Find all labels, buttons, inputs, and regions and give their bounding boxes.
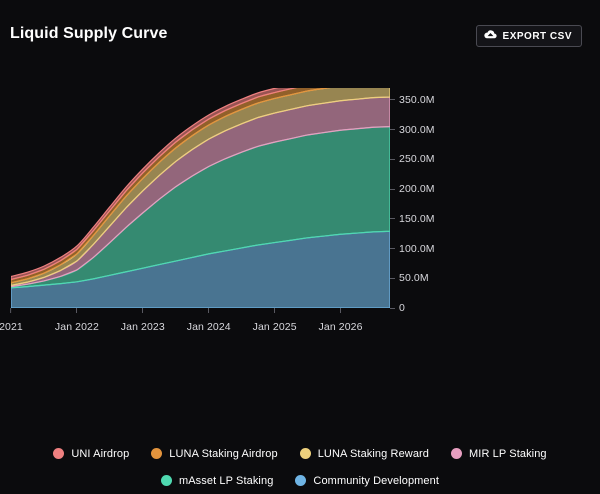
legend-label: Community Development [313,475,439,487]
y-tick-label: 50.0M [399,272,429,284]
x-axis-tick: Jan 2025 [253,308,297,335]
x-axis-tick: 2021 [0,308,23,335]
x-tick-mark [142,308,143,313]
legend-color-dot [295,475,306,486]
y-axis-tick: 200.0M [390,183,435,195]
y-axis: 050.0M100.0M150.0M200.0M250.0M300.0M350.… [390,68,460,292]
stacked-area-plot[interactable] [11,88,390,308]
x-tick-mark [208,308,209,313]
x-tick-mark [274,308,275,313]
y-tick-mark [390,189,395,190]
y-tick-mark [390,129,395,130]
legend-item-luna-staking-reward[interactable]: LUNA Staking Reward [300,448,429,460]
legend-item-uni-airdrop[interactable]: UNI Airdrop [53,448,129,460]
export-csv-button[interactable]: EXPORT CSV [476,25,582,47]
x-tick-mark [340,308,341,313]
chart-panel: Liquid Supply Curve EXPORT CSV 050.0M100… [0,0,600,494]
y-axis-tick: 100.0M [390,243,435,255]
export-csv-label: EXPORT CSV [503,31,572,42]
legend-item-masset-lp-staking[interactable]: mAsset LP Staking [161,475,273,487]
legend-row-2: mAsset LP StakingCommunity Development [0,467,600,494]
x-axis-tick: Jan 2026 [319,308,363,335]
legend-color-dot [451,448,462,459]
legend-label: LUNA Staking Reward [318,448,429,460]
legend-item-mir-lp-staking[interactable]: MIR LP Staking [451,448,547,460]
cloud-download-icon [484,27,497,45]
y-axis-tick: 250.0M [390,153,435,165]
y-tick-mark [390,99,395,100]
y-tick-mark [390,218,395,219]
legend-item-luna-staking-airdrop[interactable]: LUNA Staking Airdrop [151,448,277,460]
panel-header: Liquid Supply Curve EXPORT CSV [0,0,600,68]
x-tick-label: Jan 2025 [253,321,297,333]
y-tick-label: 350.0M [399,94,435,106]
x-tick-mark [76,308,77,313]
y-tick-mark [390,159,395,160]
y-tick-label: 300.0M [399,124,435,136]
y-tick-label: 100.0M [399,243,435,255]
y-tick-label: 150.0M [399,213,435,225]
y-tick-mark [390,278,395,279]
legend-item-community-development[interactable]: Community Development [295,475,439,487]
x-tick-label: Jan 2022 [55,321,99,333]
y-axis-tick: 150.0M [390,213,435,225]
y-tick-label: 250.0M [399,153,435,165]
legend-color-dot [161,475,172,486]
x-axis: 2021Jan 2022Jan 2023Jan 2024Jan 2025Jan … [0,308,400,336]
legend-label: LUNA Staking Airdrop [169,448,277,460]
chart-legend: UNI AirdropLUNA Staking AirdropLUNA Stak… [0,440,600,494]
x-tick-mark [10,308,11,313]
x-tick-label: 2021 [0,321,23,333]
y-axis-tick: 300.0M [390,124,435,136]
x-tick-label: Jan 2026 [319,321,363,333]
x-tick-label: Jan 2023 [121,321,165,333]
y-axis-tick: 50.0M [390,272,429,284]
legend-color-dot [151,448,162,459]
y-tick-mark [390,248,395,249]
x-axis-tick: Jan 2022 [55,308,99,335]
y-axis-tick: 350.0M [390,94,435,106]
legend-label: UNI Airdrop [71,448,129,460]
x-tick-label: Jan 2024 [187,321,231,333]
legend-row-1: UNI AirdropLUNA Staking AirdropLUNA Stak… [0,440,600,467]
x-axis-tick: Jan 2023 [121,308,165,335]
legend-color-dot [53,448,64,459]
legend-label: MIR LP Staking [469,448,547,460]
legend-color-dot [300,448,311,459]
chart-area: 050.0M100.0M150.0M200.0M250.0M300.0M350.… [0,68,600,338]
page-title: Liquid Supply Curve [10,25,167,43]
y-tick-label: 200.0M [399,183,435,195]
legend-label: mAsset LP Staking [179,475,273,487]
x-axis-tick: Jan 2024 [187,308,231,335]
